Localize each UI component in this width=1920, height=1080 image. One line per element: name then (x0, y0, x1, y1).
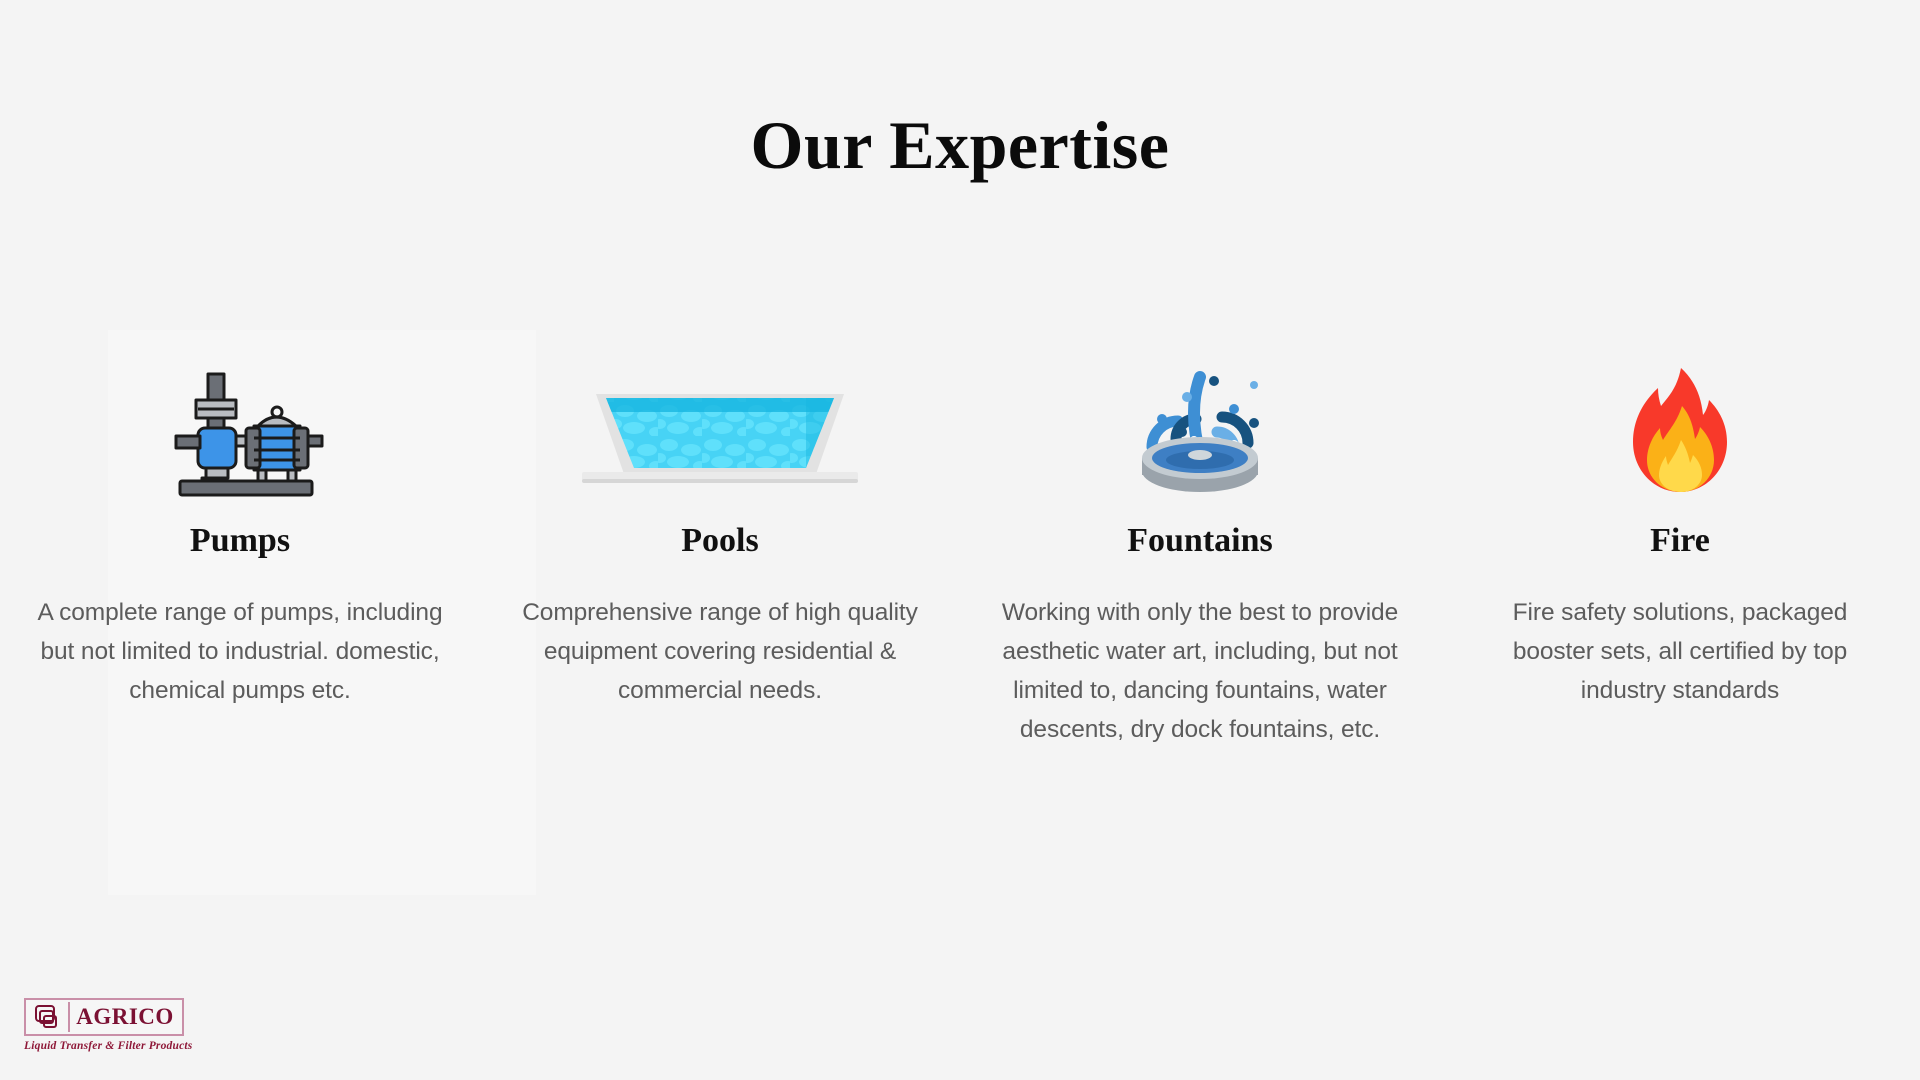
logo-tagline: Liquid Transfer & Filter Products (24, 1040, 184, 1052)
card-description: Comprehensive range of high quality equi… (513, 594, 928, 710)
water-pump-icon (154, 348, 326, 498)
agrico-logo: AGRICO Liquid Transfer & Filter Products (24, 998, 184, 1052)
card-description: Fire safety solutions, packaged booster … (1473, 594, 1888, 710)
expertise-card-fire: Fire Fire safety solutions, packaged boo… (1440, 330, 1920, 711)
card-description: Working with only the best to provide ae… (993, 594, 1408, 749)
agrico-monogram-icon (28, 1002, 70, 1032)
fire-flame-icon (1625, 348, 1735, 498)
logo-wordmark: AGRICO (70, 1002, 180, 1032)
expertise-card-fountains: Fountains Working with only the best to … (960, 330, 1440, 749)
card-title: Fountains (1127, 522, 1273, 559)
expertise-card-row: Pumps A complete range of pumps, includi… (0, 330, 1920, 749)
card-description: A complete range of pumps, including but… (33, 594, 448, 710)
card-title: Fire (1650, 522, 1710, 559)
expertise-card-pumps: Pumps A complete range of pumps, includi… (0, 330, 480, 711)
page-title: Our Expertise (0, 108, 1920, 183)
water-fountain-icon (1130, 348, 1270, 498)
expertise-card-pools: Pools Comprehensive range of high qualit… (480, 330, 960, 711)
swimming-pool-icon (570, 348, 870, 498)
logo-box: AGRICO (24, 998, 184, 1036)
card-title: Pools (681, 522, 758, 559)
card-title: Pumps (190, 522, 290, 559)
